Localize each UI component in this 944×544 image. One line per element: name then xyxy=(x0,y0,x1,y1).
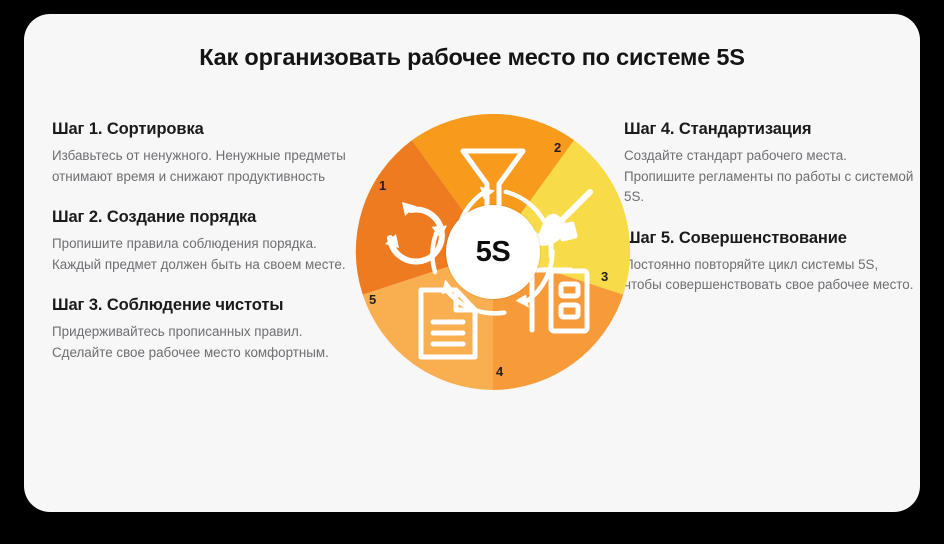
step-block-1: Шаг 1. Сортировка Избавьтесь от ненужног… xyxy=(52,120,347,187)
step-3-body: Придерживайтесь прописанных правил. Сдел… xyxy=(52,322,347,363)
step-3-heading: Шаг 3. Соблюдение чистоты xyxy=(52,296,347,315)
step-5-heading: Шаг 5. Совершенствование xyxy=(624,229,919,248)
step-block-5: Шаг 5. Совершенствование Постоянно повто… xyxy=(624,229,919,296)
cycle-pie-chart: 1 2 3 4 5 5S xyxy=(355,114,631,390)
step-4-body: Создайте стандарт рабочего места. Пропиш… xyxy=(624,146,919,208)
slice-number-4: 4 xyxy=(496,364,503,379)
slice-number-5: 5 xyxy=(369,292,376,307)
center-label: 5S xyxy=(476,236,510,269)
step-block-4: Шаг 4. Стандартизация Создайте стандарт … xyxy=(624,120,919,208)
step-block-2: Шаг 2. Создание порядка Пропишите правил… xyxy=(52,208,347,275)
step-block-3: Шаг 3. Соблюдение чистоты Придерживайтес… xyxy=(52,296,347,363)
steps-right-column: Шаг 4. Стандартизация Создайте стандарт … xyxy=(624,120,919,317)
step-2-body: Пропишите правила соблюдения порядка. Ка… xyxy=(52,234,347,275)
slice-number-1: 1 xyxy=(379,178,386,193)
infographic-card: Как организовать рабочее место по систем… xyxy=(24,14,920,512)
step-1-heading: Шаг 1. Сортировка xyxy=(52,120,347,139)
step-2-heading: Шаг 2. Создание порядка xyxy=(52,208,347,227)
step-5-body: Постоянно повторяйте цикл системы 5S, чт… xyxy=(624,255,919,296)
page-title: Как организовать рабочее место по систем… xyxy=(24,44,920,71)
center-hub: 5S xyxy=(446,205,540,299)
slice-number-2: 2 xyxy=(554,140,561,155)
slice-number-3: 3 xyxy=(601,269,608,284)
steps-left-column: Шаг 1. Сортировка Избавьтесь от ненужног… xyxy=(52,120,347,384)
step-1-body: Избавьтесь от ненужного. Ненужные предме… xyxy=(52,146,347,187)
step-4-heading: Шаг 4. Стандартизация xyxy=(624,120,919,139)
